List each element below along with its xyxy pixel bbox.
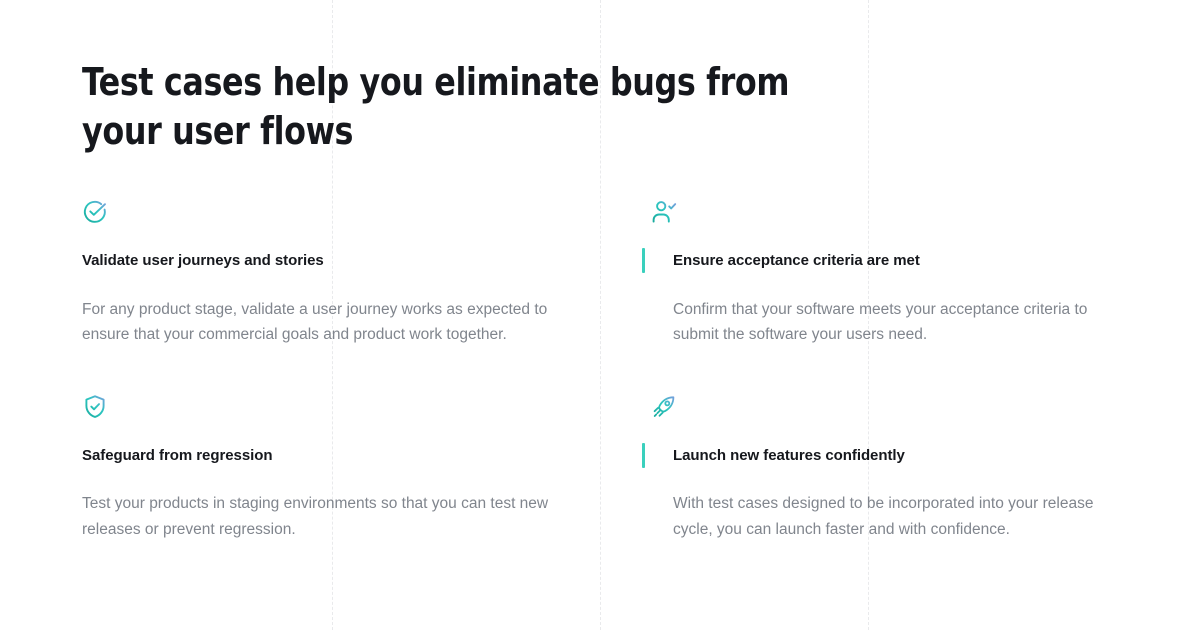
feature-card-validate-user-journeys: Validate user journeys and stories For a… — [82, 199, 620, 348]
feature-heading: Validate user journeys and stories — [82, 251, 580, 271]
feature-body: Confirm that your software meets your ac… — [651, 297, 1124, 348]
circle-check-icon — [82, 199, 108, 225]
content-wrapper: Test cases help you eliminate bugs from … — [0, 0, 1200, 543]
feature-card-safeguard-regression: Safeguard from regression Test your prod… — [82, 394, 620, 543]
feature-body: With test cases designed to be incorpora… — [651, 491, 1124, 542]
feature-body: Test your products in staging environmen… — [82, 491, 580, 542]
feature-card-acceptance-criteria: Ensure acceptance criteria are met Confi… — [620, 199, 1158, 348]
user-check-icon — [651, 199, 677, 225]
marketing-feature-section: Test cases help you eliminate bugs from … — [0, 0, 1200, 630]
feature-card-launch-features: Launch new features confidently With tes… — [620, 394, 1158, 543]
shield-check-icon — [82, 394, 108, 420]
feature-heading: Launch new features confidently — [651, 446, 1124, 466]
rocket-icon — [651, 394, 677, 420]
feature-heading: Ensure acceptance criteria are met — [651, 251, 1124, 271]
feature-body: For any product stage, validate a user j… — [82, 297, 580, 348]
feature-heading: Safeguard from regression — [82, 446, 580, 466]
page-title: Test cases help you eliminate bugs from … — [82, 58, 817, 155]
feature-grid: Validate user journeys and stories For a… — [82, 199, 1130, 542]
